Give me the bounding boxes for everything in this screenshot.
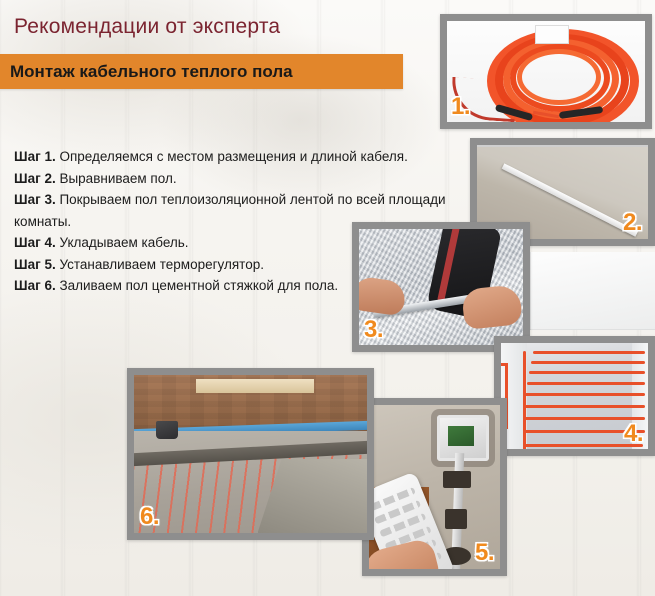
photo-5-content: 5.: [369, 405, 500, 569]
photo-3-content: 3.: [359, 229, 523, 345]
coil-label-tag: [535, 25, 569, 44]
worker-hand-right: [461, 284, 523, 330]
cable-run: [527, 382, 645, 385]
photo-badge-4: 4.: [624, 420, 643, 448]
photo-badge-5: 5.: [475, 539, 494, 567]
conduit-clamp: [443, 471, 471, 488]
thermostat-circuit-board: [448, 426, 474, 446]
photo-step-5: 5.: [362, 398, 507, 576]
step-number: Шаг 2.: [14, 171, 56, 186]
step-item: Шаг 2. Выравниваем пол.: [14, 168, 454, 190]
photo-step-1: 1.: [440, 14, 652, 129]
cable-side-turn: [501, 363, 507, 366]
mortar-bucket: [156, 421, 178, 439]
cable-left-edge: [523, 351, 526, 449]
step-number: Шаг 4.: [14, 235, 56, 250]
step-text: Заливаем пол цементной стяжкой для пола.: [56, 278, 338, 293]
photo-step-4: 4.: [494, 336, 655, 456]
photo-badge-3: 3.: [364, 316, 383, 344]
step-number: Шаг 6.: [14, 278, 56, 293]
infographic-poster: Рекомендации от эксперта Монтаж кабельно…: [0, 0, 655, 596]
step-text: Выравниваем пол.: [56, 171, 177, 186]
step-text: Укладываем кабель.: [56, 235, 189, 250]
photo-step-3: 3.: [352, 222, 530, 352]
cable-run: [523, 405, 645, 408]
banner-bar: Монтаж кабельного теплого пола: [0, 54, 403, 89]
cable-run: [529, 371, 645, 374]
step-item: Шаг 1. Определяемся с местом размещения …: [14, 146, 454, 168]
wall-opening: [196, 379, 314, 393]
page-title: Рекомендации от эксперта: [14, 14, 280, 40]
conduit-clamp: [445, 509, 467, 529]
cable-run: [533, 351, 645, 354]
photo-1-content: 1.: [447, 21, 645, 122]
photo-badge-1: 1.: [451, 93, 470, 121]
cable-coil-ring: [517, 49, 601, 105]
photo-4-content: 4.: [501, 343, 648, 449]
step-number: Шаг 5.: [14, 257, 56, 272]
photo-badge-6: 6.: [140, 503, 159, 531]
photo-badge-2: 2.: [623, 209, 642, 237]
banner-title: Монтаж кабельного теплого пола: [10, 62, 293, 82]
photo-step-6: 6.: [127, 368, 374, 540]
tile-background-patch: [530, 252, 655, 330]
cable-run: [525, 393, 645, 396]
step-number: Шаг 1.: [14, 149, 56, 164]
photo-6-content: 6.: [134, 375, 367, 533]
step-text: Устанавливаем терморегулятор.: [56, 257, 264, 272]
cable-run: [531, 361, 645, 364]
step-number: Шаг 3.: [14, 192, 56, 207]
step-text: Определяемся с местом размещения и длино…: [56, 149, 408, 164]
